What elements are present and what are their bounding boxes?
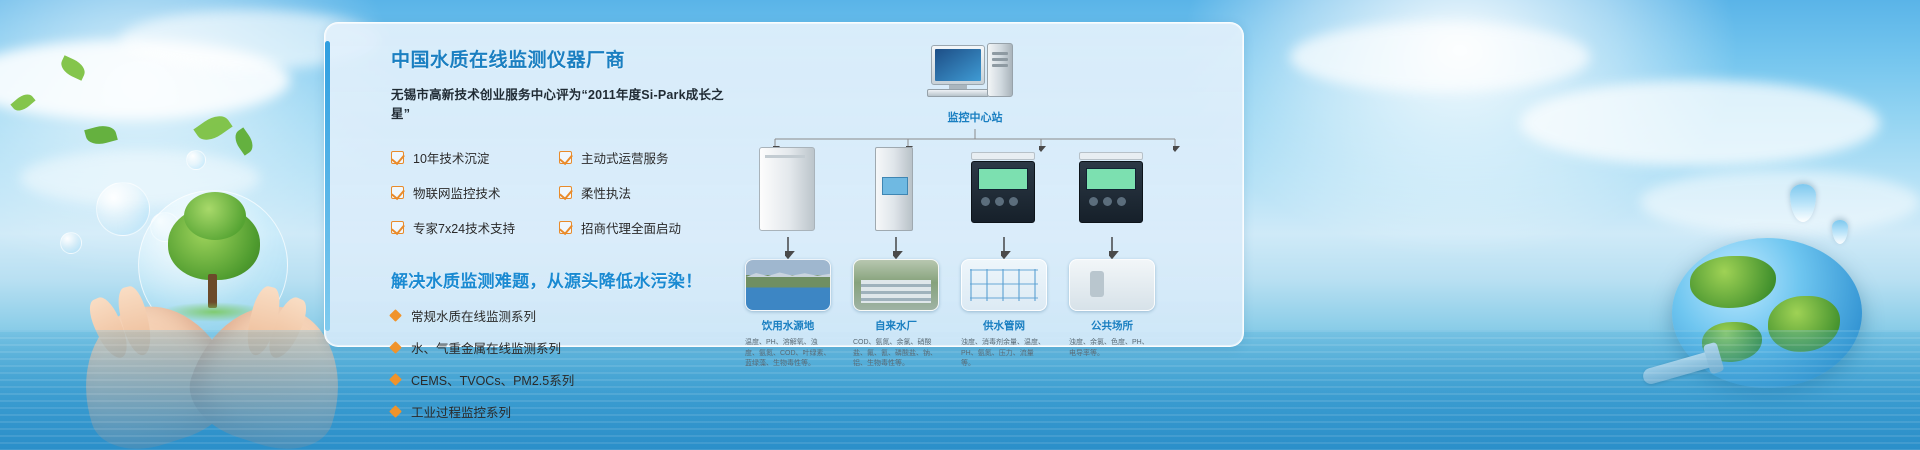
device-water-cabinet[interactable] (759, 147, 823, 229)
monitoring-center-computer-icon (931, 43, 1015, 101)
page-subtitle: 无锡市高新技术创业服务中心评为“2011年度Si-Park成长之星” (391, 84, 731, 122)
diamond-bullet-icon (389, 309, 402, 322)
system-diagram: 监控中心站 (745, 37, 1215, 337)
diamond-bullet-icon (389, 405, 402, 418)
feature-item[interactable]: 专家7x24技术支持 (391, 218, 559, 237)
series-item[interactable]: CEMS、TVOCs、PM2.5系列 (391, 370, 731, 389)
series-item[interactable]: 工业过程监控系列 (391, 402, 731, 421)
series-label: 常规水质在线监测系列 (411, 306, 536, 325)
scene-card[interactable]: 自来水厂 COD、氨氮、余氯、硝酸盐、氟、氰、磷酸盐、钠、铝、生物毒性等。 (853, 259, 939, 370)
scene-desc: 浊度、消毒剂余量、温度、PH、氨氮、压力、流量等。 (961, 338, 1047, 370)
cloud-3 (1290, 22, 1590, 92)
series-label: 工业过程监控系列 (411, 402, 511, 421)
scene-card-list: 饮用水源地 温度、PH、溶解氧、浊度、氨氮、COD、叶绿素、蓝绿藻、生物毒性等。… (745, 259, 1215, 370)
device-analyzer-rack[interactable] (875, 147, 939, 229)
diamond-bullet-icon (389, 341, 402, 354)
feature-label: 招商代理全面启动 (581, 218, 681, 237)
cloud-4 (1520, 80, 1880, 166)
scene-thumbnail-pipe-network (961, 259, 1047, 311)
feature-label: 专家7x24技术支持 (413, 218, 515, 237)
check-icon (559, 186, 572, 199)
feature-item[interactable]: 主动式运营服务 (559, 148, 719, 167)
feature-item[interactable]: 柔性执法 (559, 183, 719, 202)
feature-label: 柔性执法 (581, 183, 631, 202)
monitoring-center-label: 监控中心站 (895, 109, 1055, 125)
device-multi-parameter-controller[interactable] (971, 161, 1035, 243)
page-title: 中国水质在线监测仪器厂商 (391, 45, 731, 72)
check-icon (391, 221, 404, 234)
feature-item[interactable]: 10年技术沉淀 (391, 148, 559, 167)
feature-item[interactable]: 招商代理全面启动 (559, 218, 719, 237)
series-label: CEMS、TVOCs、PM2.5系列 (411, 370, 574, 389)
device-body (759, 147, 815, 231)
feature-label: 主动式运营服务 (581, 148, 669, 167)
scene-desc: COD、氨氮、余氯、硝酸盐、氟、氰、磷酸盐、钠、铝、生物毒性等。 (853, 338, 939, 370)
tree-crown-top (184, 192, 246, 240)
scene-card[interactable]: 供水管网 浊度、消毒剂余量、温度、PH、氨氮、压力、流量等。 (961, 259, 1047, 370)
scene-title: 公共场所 (1069, 318, 1155, 333)
scene-thumbnail-public-place (1069, 259, 1155, 311)
keyboard-icon (927, 89, 989, 97)
check-icon (391, 186, 404, 199)
section-subheading: 解决水质监测难题，从源头降低水污染！ (391, 267, 731, 292)
device-body (971, 161, 1035, 223)
check-icon (559, 221, 572, 234)
scene-thumbnail-reservoir (745, 259, 831, 311)
scene-desc: 浊度、余氯、色度、PH、电导率等。 (1069, 338, 1155, 359)
device-body (875, 147, 913, 231)
panel-left-column: 中国水质在线监测仪器厂商 无锡市高新技术创业服务中心评为“2011年度Si-Pa… (391, 45, 731, 421)
scene-desc: 温度、PH、溶解氧、浊度、氨氮、COD、叶绿素、蓝绿藻、生物毒性等。 (745, 338, 831, 370)
device-body (1079, 161, 1143, 223)
monitor-icon (931, 45, 985, 85)
bubble-3 (186, 150, 206, 170)
feature-label: 物联网监控技术 (413, 183, 501, 202)
series-item[interactable]: 水、气重金属在线监测系列 (391, 338, 731, 357)
diamond-bullet-icon (389, 373, 402, 386)
water-droplet-large (1790, 184, 1816, 222)
scene-card[interactable]: 饮用水源地 温度、PH、溶解氧、浊度、氨氮、COD、叶绿素、蓝绿藻、生物毒性等。 (745, 259, 831, 370)
check-icon (391, 151, 404, 164)
device-online-transmitter[interactable] (1079, 161, 1143, 243)
check-icon (559, 151, 572, 164)
product-series-list: 常规水质在线监测系列 水、气重金属在线监测系列 CEMS、TVOCs、PM2.5… (391, 306, 731, 421)
water-droplet-small (1832, 220, 1848, 244)
series-label: 水、气重金属在线监测系列 (411, 338, 561, 357)
feature-list: 10年技术沉淀 主动式运营服务 物联网监控技术 柔性执法 专家7x24技术支持 … (391, 148, 731, 237)
pc-tower-icon (987, 43, 1013, 97)
feature-label: 10年技术沉淀 (413, 148, 489, 167)
scene-title: 自来水厂 (853, 318, 939, 333)
main-panel: 中国水质在线监测仪器厂商 无锡市高新技术创业服务中心评为“2011年度Si-Pa… (324, 22, 1244, 347)
feature-item[interactable]: 物联网监控技术 (391, 183, 559, 202)
panel-accent-bar (325, 41, 330, 331)
scene-card[interactable]: 公共场所 浊度、余氯、色度、PH、电导率等。 (1069, 259, 1155, 370)
scene-thumbnail-waterworks (853, 259, 939, 311)
series-item[interactable]: 常规水质在线监测系列 (391, 306, 731, 325)
scene-title: 供水管网 (961, 318, 1047, 333)
scene-title: 饮用水源地 (745, 318, 831, 333)
